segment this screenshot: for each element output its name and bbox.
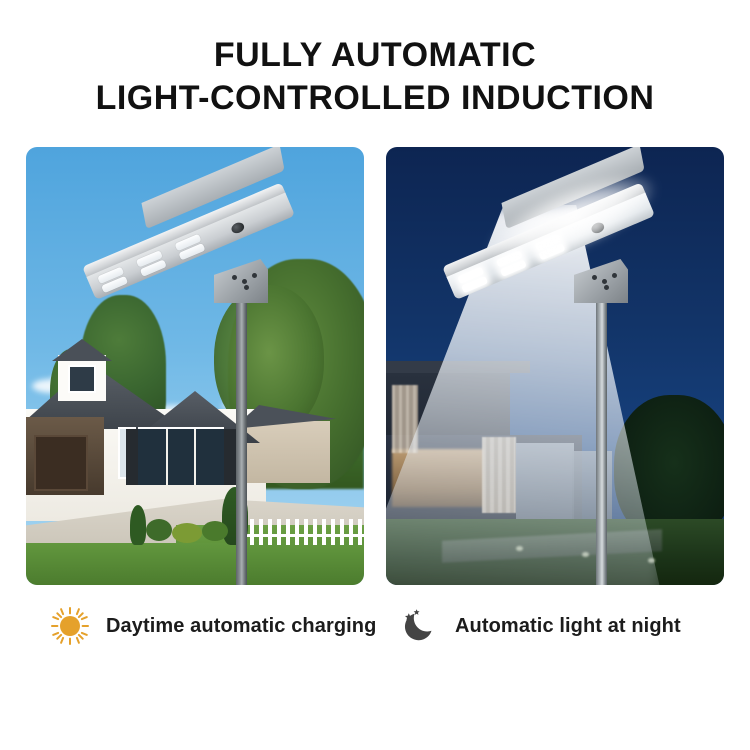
solar-street-light [386, 147, 724, 585]
lamp-pole [236, 295, 247, 585]
solar-street-light [26, 147, 364, 585]
daytime-photo [26, 147, 364, 585]
moon-stars-icon [397, 604, 441, 648]
headline-line-2: LIGHT-CONTROLLED INDUCTION [0, 77, 750, 120]
caption-nighttime: Automatic light at night [375, 600, 724, 652]
page-title: FULLY AUTOMATIC LIGHT-CONTROLLED INDUCTI… [0, 34, 750, 120]
sun-icon [48, 604, 92, 648]
photo-row [26, 147, 724, 585]
caption-row: Daytime automatic charging Automatic lig… [26, 600, 724, 652]
caption-label: Daytime automatic charging [106, 615, 376, 638]
caption-label: Automatic light at night [455, 615, 681, 638]
product-feature-banner: FULLY AUTOMATIC LIGHT-CONTROLLED INDUCTI… [0, 0, 750, 750]
nighttime-photo [386, 147, 724, 585]
bracket-bolts [232, 273, 262, 289]
lamp-pole [596, 295, 607, 585]
headline-line-1: FULLY AUTOMATIC [0, 34, 750, 77]
motion-sensor [230, 221, 246, 235]
caption-daytime: Daytime automatic charging [26, 600, 375, 652]
bracket-bolts [592, 273, 622, 289]
